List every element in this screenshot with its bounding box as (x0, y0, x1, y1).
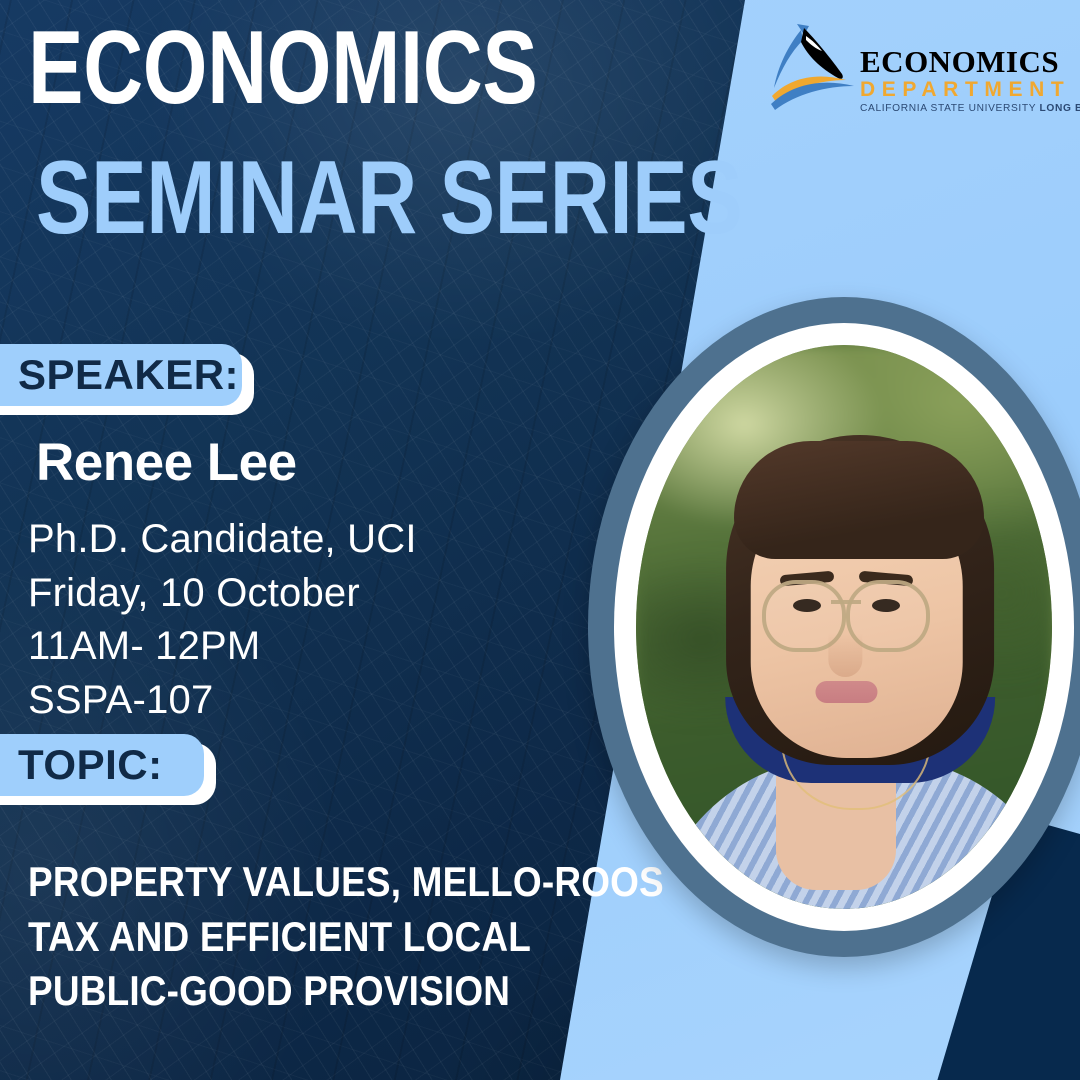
photo-lips (815, 681, 877, 703)
logo-university-name: CALIFORNIA STATE UNIVERSITY (860, 103, 1040, 114)
topic-line-2: TAX AND EFFICIENT LOCAL (28, 910, 494, 965)
economics-department-logo: ECONOMICS DEPARTMENT CALIFORNIA STATE UN… (768, 22, 1068, 126)
headline-line-economics: ECONOMICS (28, 18, 588, 120)
speaker-name: Renee Lee (36, 432, 297, 493)
portrait-outer-ring (588, 297, 1080, 957)
seminar-poster: ECONOMICS SEMINAR SERIES SPEAKER: Renee … (0, 0, 1080, 1080)
poster-headline: ECONOMICS SEMINAR SERIES (28, 18, 728, 250)
speaker-label-badge: SPEAKER: (0, 344, 242, 406)
speaker-photo (636, 345, 1052, 909)
photo-eyeglass-bridge (831, 600, 861, 604)
topic-line-1: PROPERTY VALUES, MELLO-ROOS (28, 855, 494, 910)
photo-hair-fringe (734, 441, 984, 559)
topic-line-3: PUBLIC-GOOD PROVISION (28, 964, 494, 1019)
detail-affiliation: Ph.D. Candidate, UCI (28, 513, 417, 567)
logo-campus-name: LONG BEACH (1040, 103, 1080, 114)
headline-line-seminar-series: SEMINAR SERIES (36, 148, 590, 250)
event-details: Ph.D. Candidate, UCI Friday, 10 October … (28, 513, 417, 727)
topic-label-badge: TOPIC: (0, 734, 204, 796)
logo-department-text: DEPARTMENT (860, 77, 1070, 103)
detail-time: 11AM- 12PM (28, 620, 417, 674)
speaker-badge-text: SPEAKER: (0, 344, 242, 406)
detail-location: SSPA-107 (28, 674, 417, 728)
topic-title: PROPERTY VALUES, MELLO-ROOS TAX AND EFFI… (28, 855, 558, 1019)
photo-nose (828, 633, 862, 677)
logo-university-text: CALIFORNIA STATE UNIVERSITY LONG BEACH (860, 103, 1070, 114)
topic-badge-text: TOPIC: (0, 734, 204, 796)
detail-date: Friday, 10 October (28, 567, 417, 621)
logo-wordmark: ECONOMICS DEPARTMENT CALIFORNIA STATE UN… (860, 46, 1070, 114)
logo-economics-text: ECONOMICS (860, 46, 1070, 77)
csulb-shark-fin-icon (768, 22, 874, 114)
portrait-inner-white-ring (614, 323, 1074, 931)
